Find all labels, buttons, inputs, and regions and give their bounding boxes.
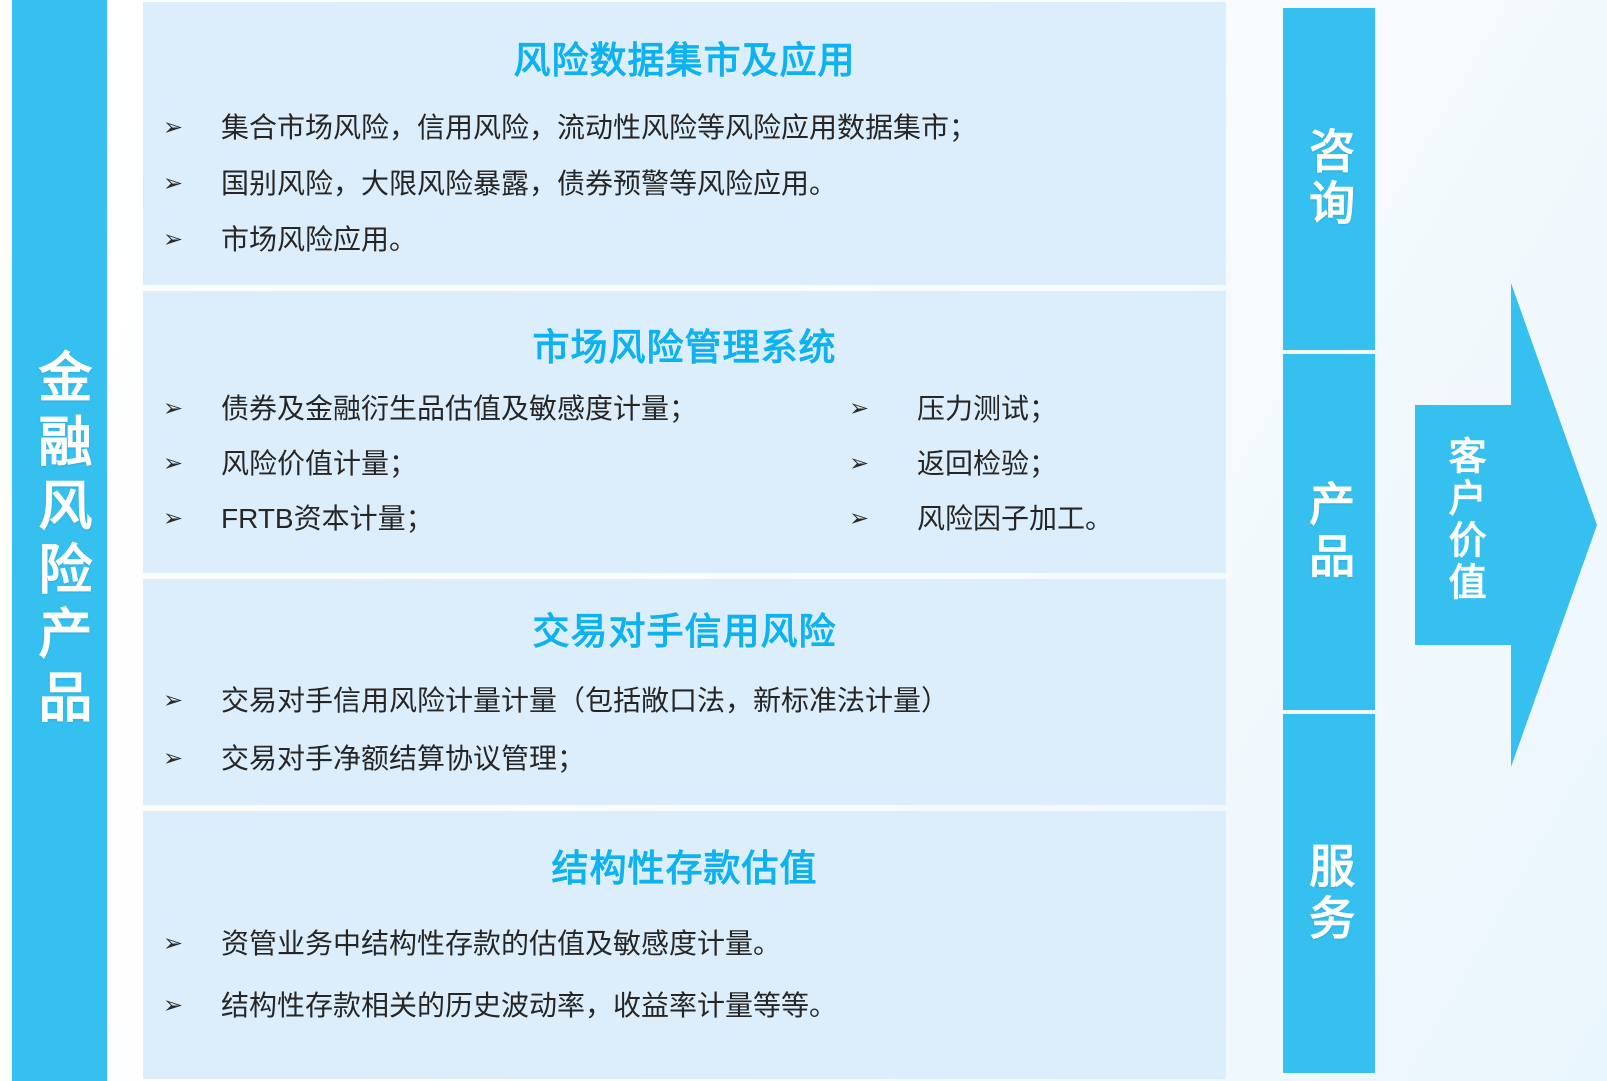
- list-item-label: 结构性存款相关的历史波动率，收益率计量等等。: [189, 990, 1226, 1022]
- list-item: ➢ 压力测试；: [843, 393, 1226, 425]
- arrow-bullet-icon: ➢: [157, 168, 189, 200]
- stage-product: 产品: [1283, 354, 1375, 710]
- customer-value-arrow: 客户价值: [1415, 275, 1607, 775]
- arrow-bullet-icon: ➢: [157, 503, 189, 535]
- list-item: ➢ 市场风险应用。: [143, 224, 1226, 256]
- list-item: ➢ 国别风险，大限风险暴露，债券预警等风险应用。: [143, 168, 1226, 200]
- arrow-bullet-icon: ➢: [157, 685, 189, 717]
- arrow-bullet-icon: ➢: [157, 393, 189, 425]
- list-item-label: 资管业务中结构性存款的估值及敏感度计量。: [189, 928, 1226, 960]
- left-category-label: 金融风险产品: [31, 349, 88, 733]
- list-item-label: 交易对手信用风险计量计量（包括敞口法，新标准法计量）: [189, 685, 1226, 717]
- panel-structured-deposit-valuation: 结构性存款估值 ➢ 资管业务中结构性存款的估值及敏感度计量。 ➢ 结构性存款相关…: [143, 811, 1226, 1079]
- list-item-label: 风险价值计量；: [189, 448, 843, 480]
- bullet-column-left: ➢ 债券及金融衍生品估值及敏感度计量； ➢ 风险价值计量； ➢ FRTB资本计量…: [143, 393, 843, 558]
- right-arrow-icon: [1415, 275, 1607, 775]
- stage-consulting: 咨询: [1283, 8, 1375, 350]
- panel-market-risk-management-system: 市场风险管理系统 ➢ 债券及金融衍生品估值及敏感度计量； ➢ 风险价值计量； ➢…: [143, 291, 1226, 573]
- stage-service: 服务: [1283, 714, 1375, 1073]
- arrow-bullet-icon: ➢: [157, 448, 189, 480]
- arrow-bullet-icon: ➢: [843, 393, 875, 425]
- diagram-canvas: 金融风险产品 风险数据集市及应用 ➢ 集合市场风险，信用风险，流动性风险等风险应…: [0, 0, 1607, 1081]
- panel-title: 市场风险管理系统: [143, 291, 1226, 371]
- arrow-bullet-icon: ➢: [157, 928, 189, 960]
- stage-label: 产品: [1305, 480, 1353, 584]
- list-item-label: 集合市场风险，信用风险，流动性风险等风险应用数据集市；: [189, 112, 1226, 144]
- bullet-list: ➢ 集合市场风险，信用风险，流动性风险等风险应用数据集市； ➢ 国别风险，大限风…: [143, 112, 1226, 256]
- list-item: ➢ 交易对手净额结算协议管理；: [143, 743, 1226, 775]
- arrow-bullet-icon: ➢: [157, 990, 189, 1022]
- stage-label: 咨询: [1305, 127, 1353, 231]
- arrow-bullet-icon: ➢: [157, 112, 189, 144]
- list-item-label: 压力测试；: [875, 393, 1226, 425]
- bullet-list: ➢ 债券及金融衍生品估值及敏感度计量； ➢ 风险价值计量； ➢ FRTB资本计量…: [143, 393, 1226, 558]
- list-item: ➢ 风险因子加工。: [843, 503, 1226, 535]
- list-item-label: 债券及金融衍生品估值及敏感度计量；: [189, 393, 843, 425]
- list-item-label: 风险因子加工。: [875, 503, 1226, 535]
- bullet-list: ➢ 资管业务中结构性存款的估值及敏感度计量。 ➢ 结构性存款相关的历史波动率，收…: [143, 928, 1226, 1022]
- list-item-label: 国别风险，大限风险暴露，债券预警等风险应用。: [189, 168, 1226, 200]
- panel-risk-data-mart: 风险数据集市及应用 ➢ 集合市场风险，信用风险，流动性风险等风险应用数据集市； …: [143, 2, 1226, 285]
- list-item-label: 市场风险应用。: [189, 224, 1226, 256]
- panel-title: 风险数据集市及应用: [143, 2, 1226, 84]
- list-item: ➢ FRTB资本计量；: [143, 503, 843, 535]
- stage-label: 服务: [1305, 842, 1353, 946]
- list-item-label: 返回检验；: [875, 448, 1226, 480]
- list-item-label: FRTB资本计量；: [189, 503, 843, 535]
- bullet-column-right: ➢ 压力测试； ➢ 返回检验； ➢ 风险因子加工。: [843, 393, 1226, 558]
- stage-bar: 咨询 产品 服务: [1283, 8, 1375, 1073]
- list-item: ➢ 风险价值计量；: [143, 448, 843, 480]
- list-item: ➢ 债券及金融衍生品估值及敏感度计量；: [143, 393, 843, 425]
- left-category-bar: 金融风险产品: [12, 0, 107, 1081]
- list-item: ➢ 返回检验；: [843, 448, 1226, 480]
- arrow-bullet-icon: ➢: [157, 224, 189, 256]
- list-item-label: 交易对手净额结算协议管理；: [189, 743, 1226, 775]
- panel-counterparty-credit-risk: 交易对手信用风险 ➢ 交易对手信用风险计量计量（包括敞口法，新标准法计量） ➢ …: [143, 579, 1226, 805]
- list-item: ➢ 交易对手信用风险计量计量（包括敞口法，新标准法计量）: [143, 685, 1226, 717]
- list-item: ➢ 结构性存款相关的历史波动率，收益率计量等等。: [143, 990, 1226, 1022]
- panel-title: 结构性存款估值: [143, 811, 1226, 892]
- bullet-list: ➢ 交易对手信用风险计量计量（包括敞口法，新标准法计量） ➢ 交易对手净额结算协…: [143, 685, 1226, 775]
- arrow-bullet-icon: ➢: [843, 503, 875, 535]
- arrow-bullet-icon: ➢: [157, 743, 189, 775]
- list-item: ➢ 资管业务中结构性存款的估值及敏感度计量。: [143, 928, 1226, 960]
- list-item: ➢ 集合市场风险，信用风险，流动性风险等风险应用数据集市；: [143, 112, 1226, 144]
- panel-title: 交易对手信用风险: [143, 579, 1226, 655]
- arrow-bullet-icon: ➢: [843, 448, 875, 480]
